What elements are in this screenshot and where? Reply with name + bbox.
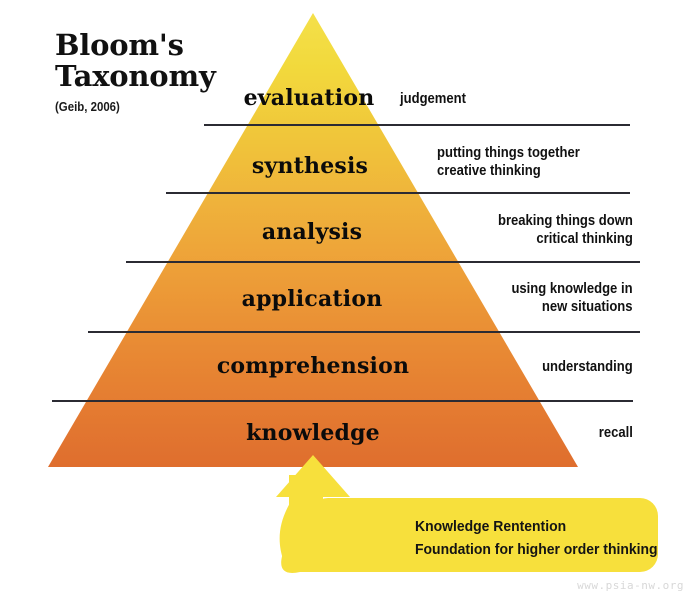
callout-text: Knowledge Rentention Foundation for high… [415, 515, 658, 561]
watermark: www.psia-nw.org [577, 579, 684, 592]
blooms-taxonomy-diagram: Bloom's Taxonomy (Geib, 2006) evaluation… [0, 0, 696, 600]
callout-arrow-shape [0, 0, 696, 600]
